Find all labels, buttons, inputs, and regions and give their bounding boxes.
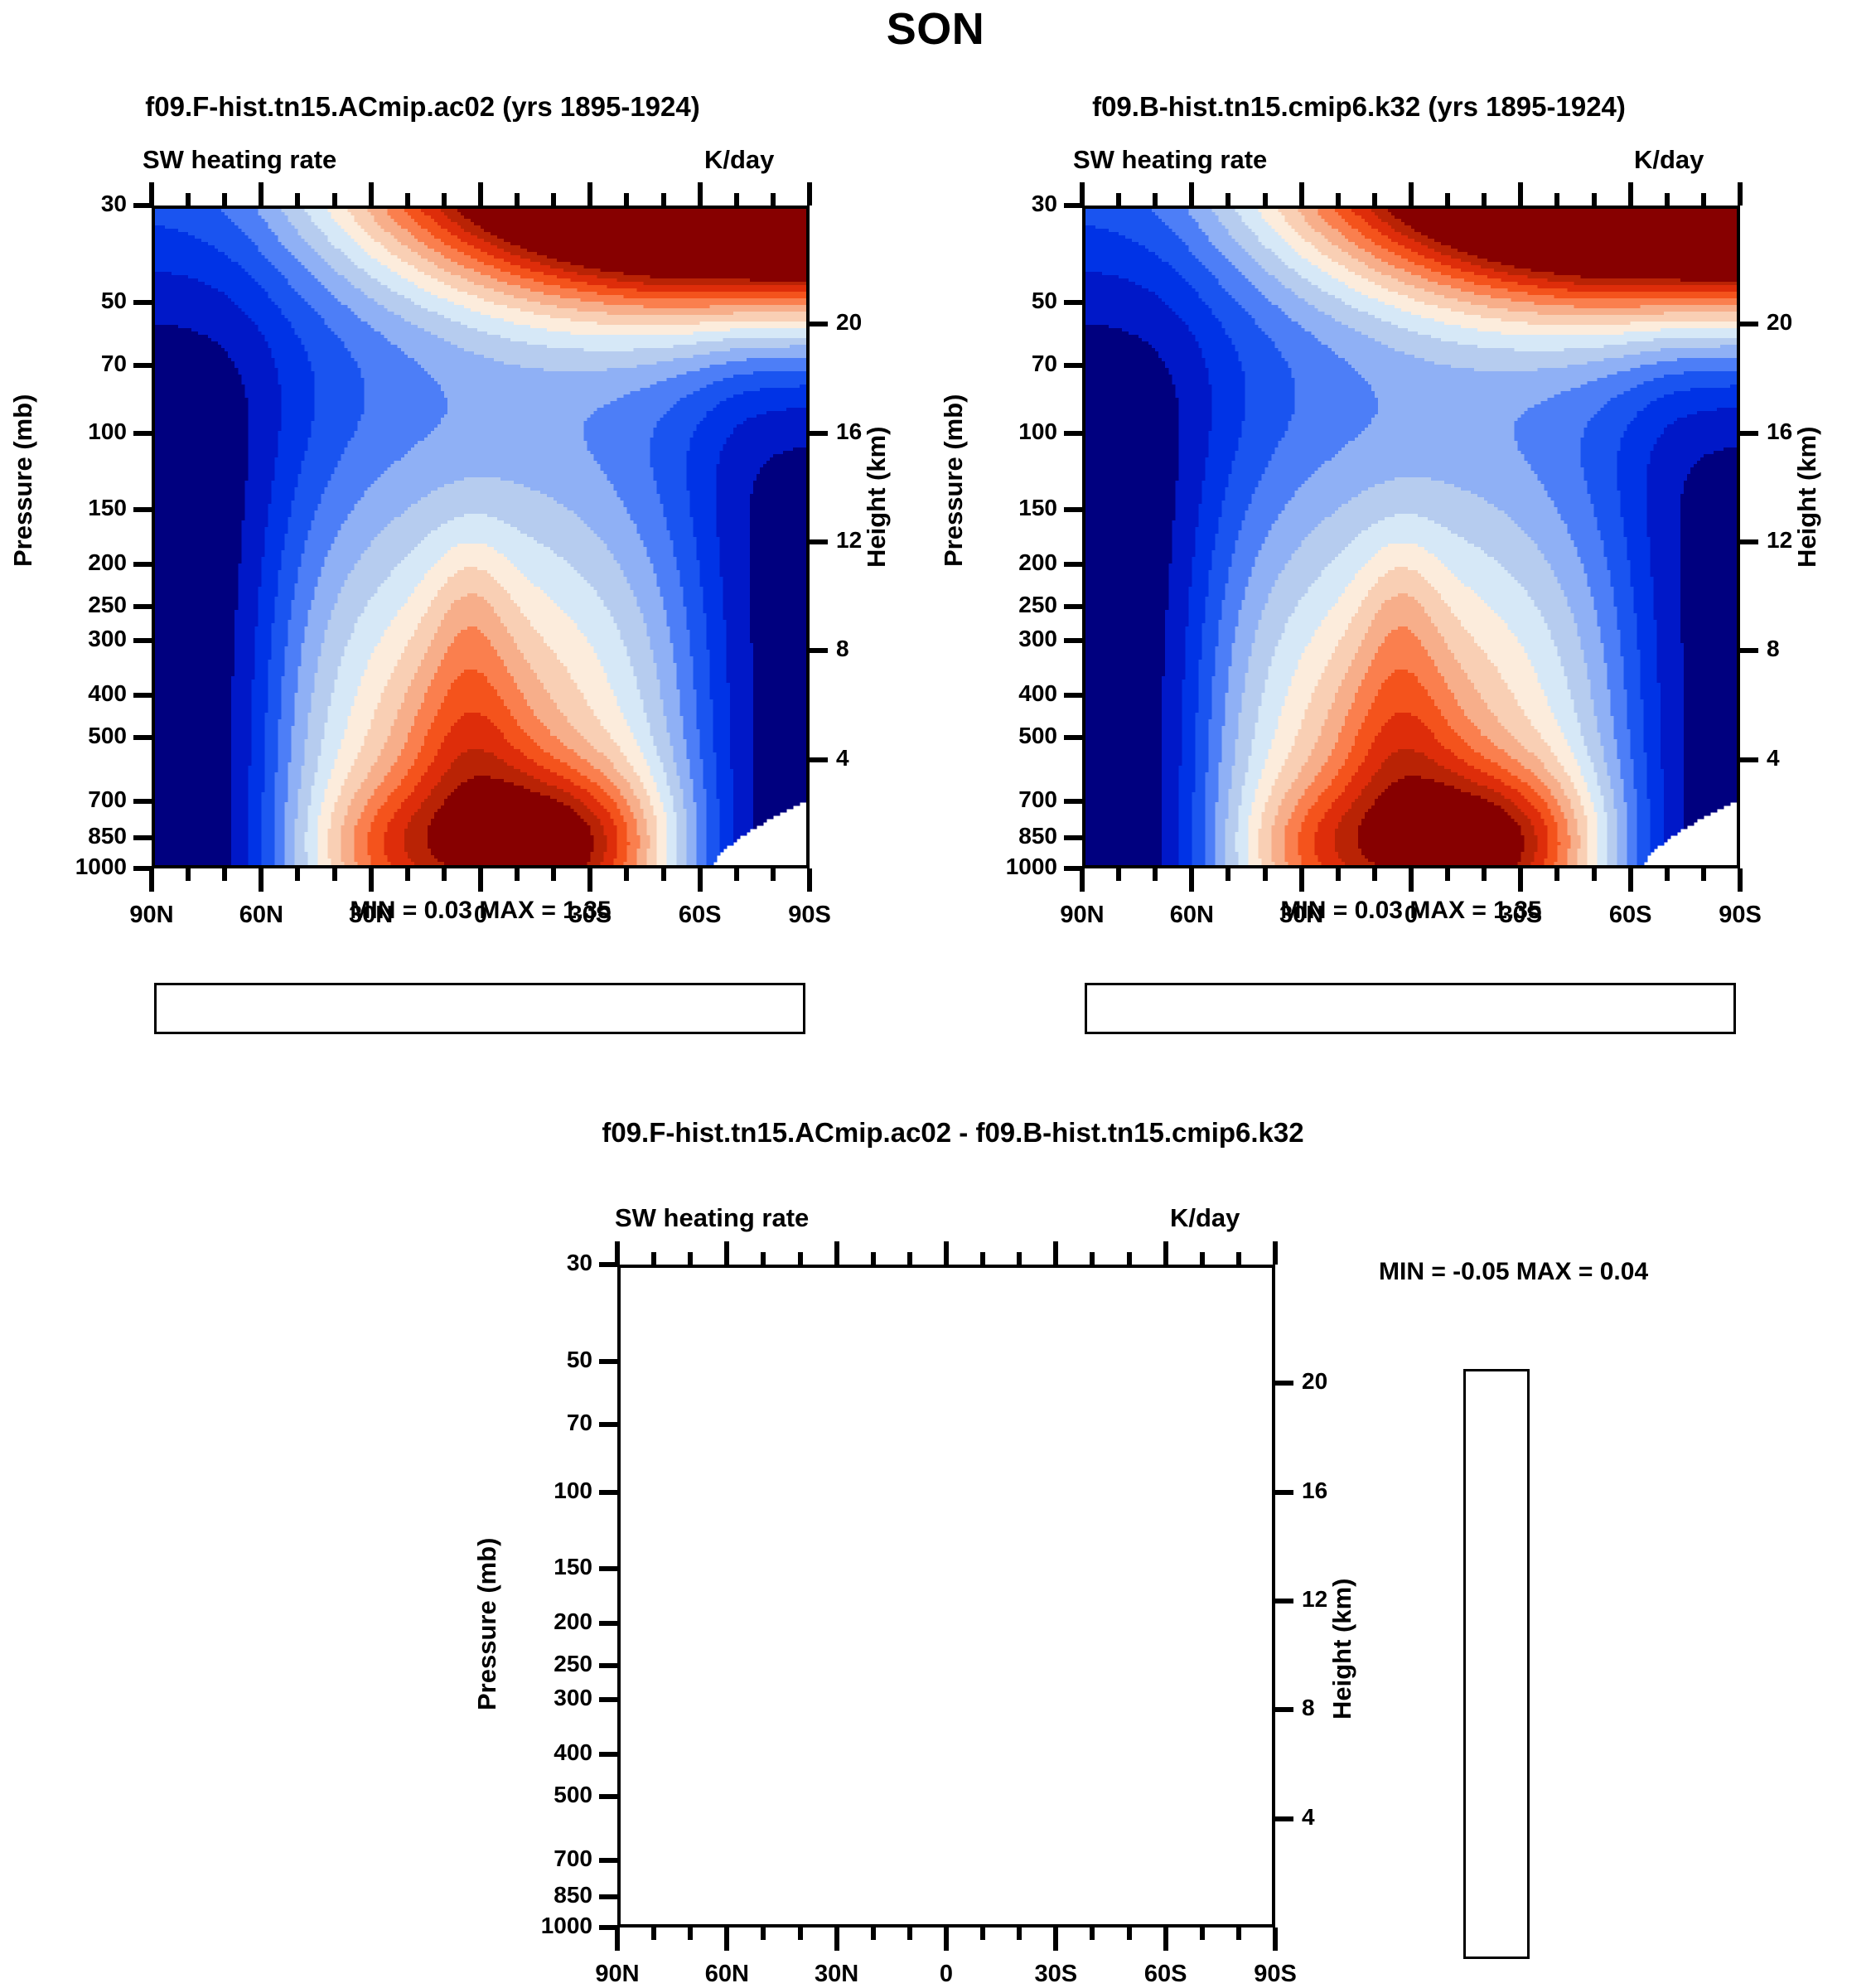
x-tick-top [907, 1252, 912, 1265]
x-tick-top [587, 182, 592, 206]
y-tick-label: 1000 [941, 854, 1057, 880]
x-tick-minor [222, 868, 227, 881]
x-tick-label: 90S [1690, 902, 1790, 929]
x-tick-top [1017, 1252, 1022, 1265]
y2-axis-title-left: Height (km) [862, 331, 892, 663]
x-tick-label: 0 [1361, 902, 1461, 929]
contour-field [1085, 209, 1740, 868]
x-tick-label: 90S [760, 902, 859, 929]
y-tick-label: 30 [11, 191, 127, 217]
y-tick-label: 700 [476, 1845, 592, 1872]
x-tick-minor [1236, 1928, 1241, 1940]
x-tick-top [259, 182, 263, 206]
y-tick-label: 200 [476, 1608, 592, 1635]
y-tick-label: 300 [941, 626, 1057, 652]
x-tick-major [1299, 868, 1304, 892]
x-tick-minor [1665, 868, 1670, 881]
y2-tick-label: 12 [1767, 527, 1792, 554]
y-tick-label: 150 [941, 495, 1057, 521]
y-tick-label: 1000 [11, 854, 127, 880]
y-tick [1064, 431, 1082, 436]
y2-tick [1275, 1381, 1293, 1386]
y2-tick-label: 4 [1767, 745, 1780, 771]
x-tick-minor [442, 868, 447, 881]
x-tick-top [442, 193, 447, 206]
y-tick-label: 500 [476, 1782, 592, 1808]
x-tick-major [834, 1928, 839, 1951]
y-tick [1064, 638, 1082, 643]
x-tick-top [1299, 182, 1304, 206]
x-tick-label: 30S [1006, 1961, 1105, 1988]
y-tick [133, 799, 152, 804]
y2-tick-label: 16 [1767, 418, 1792, 445]
y2-tick-label: 12 [836, 527, 862, 554]
y-tick-label: 500 [941, 723, 1057, 749]
y2-tick-label: 20 [1767, 309, 1792, 336]
y-tick [599, 1697, 617, 1702]
contour-plot-right [1082, 206, 1740, 868]
y-tick-label: 70 [476, 1410, 592, 1436]
x-tick-top [661, 193, 666, 206]
y-tick [1064, 300, 1082, 305]
x-tick-top [1080, 182, 1085, 206]
y-tick [133, 562, 152, 567]
x-tick-label: 90S [1226, 1961, 1325, 1988]
y-tick-label: 400 [11, 680, 127, 707]
x-tick-top [1273, 1241, 1278, 1265]
y2-tick [1740, 757, 1758, 762]
field-label-right: SW heating rate [1073, 145, 1267, 175]
x-tick-top [1263, 193, 1268, 206]
x-tick-top [515, 193, 520, 206]
y-tick [599, 1858, 617, 1863]
y-tick [599, 1794, 617, 1799]
x-tick-top [1236, 1252, 1241, 1265]
units-label-right: K/day [1634, 145, 1704, 175]
x-tick-top [834, 1241, 839, 1265]
y-tick [1064, 562, 1082, 567]
x-tick-major [724, 1928, 729, 1951]
y2-tick [810, 322, 828, 326]
y2-tick [1275, 1599, 1293, 1603]
y-tick [133, 604, 152, 609]
x-tick-top [807, 182, 812, 206]
y2-tick-label: 8 [836, 636, 849, 662]
y-tick [599, 1490, 617, 1495]
y-tick-label: 200 [941, 549, 1057, 576]
x-tick-minor [1445, 868, 1450, 881]
y-tick [1064, 363, 1082, 368]
x-tick-top [1090, 1252, 1095, 1265]
y2-tick [810, 757, 828, 762]
contour-plot-diff [617, 1265, 1275, 1928]
x-tick-minor [405, 868, 410, 881]
y-tick-label: 70 [941, 351, 1057, 377]
y2-tick [1275, 1707, 1293, 1712]
panel-title-left: f09.F-hist.tn15.ACmip.ac02 (yrs 1895-192… [50, 91, 795, 123]
x-tick-minor [1372, 868, 1377, 881]
x-tick-minor [295, 868, 300, 881]
x-tick-top [1738, 182, 1743, 206]
x-tick-top [688, 1252, 693, 1265]
y2-tick [810, 648, 828, 653]
x-tick-top [1409, 182, 1414, 206]
x-tick-top [1153, 193, 1158, 206]
y2-tick [1275, 1490, 1293, 1495]
x-tick-label: 60N [211, 902, 311, 929]
x-tick-minor [907, 1928, 912, 1940]
x-tick-major [259, 868, 263, 892]
x-tick-minor [1263, 868, 1268, 881]
x-tick-major [369, 868, 374, 892]
y-tick-label: 100 [11, 418, 127, 445]
x-tick-minor [1200, 1928, 1205, 1940]
y-tick [599, 1663, 617, 1668]
minmax-diff: MIN = -0.05 MAX = 0.04 [1379, 1258, 1648, 1286]
x-tick-top [1518, 182, 1523, 206]
y2-tick [1740, 539, 1758, 544]
x-tick-top [651, 1252, 656, 1265]
x-tick-top [1445, 193, 1450, 206]
x-tick-top [186, 193, 191, 206]
x-tick-minor [186, 868, 191, 881]
x-tick-major [478, 868, 483, 892]
x-tick-top [771, 193, 776, 206]
y-tick [133, 507, 152, 512]
y-tick [599, 1894, 617, 1899]
y2-tick [1275, 1816, 1293, 1821]
y2-tick [810, 431, 828, 436]
y2-tick-label: 8 [1302, 1695, 1315, 1721]
y-tick [1064, 835, 1082, 840]
y2-tick-label: 4 [836, 745, 849, 771]
x-tick-label: 60S [650, 902, 750, 929]
x-tick-top [1163, 1241, 1168, 1265]
y-tick [133, 693, 152, 698]
y2-axis-title-diff: Height (km) [1327, 1483, 1357, 1815]
y-tick [1064, 799, 1082, 804]
x-tick-major [615, 1928, 620, 1951]
x-tick-top [1592, 193, 1597, 206]
y-tick [1064, 507, 1082, 512]
x-tick-top [944, 1241, 949, 1265]
x-tick-major [698, 868, 703, 892]
y2-axis-title-right: Height (km) [1792, 331, 1822, 663]
x-tick-top [551, 193, 556, 206]
y-tick-label: 50 [476, 1347, 592, 1373]
y-tick-label: 700 [941, 786, 1057, 813]
x-tick-minor [734, 868, 739, 881]
x-tick-major [807, 868, 812, 892]
x-tick-top [1482, 193, 1487, 206]
x-tick-top [1189, 182, 1194, 206]
x-tick-top [1116, 193, 1121, 206]
y-tick [1064, 735, 1082, 740]
x-tick-top [1554, 193, 1559, 206]
y-tick-label: 30 [476, 1250, 592, 1276]
y-tick [133, 363, 152, 368]
y2-tick-label: 16 [836, 418, 862, 445]
x-tick-label: 90N [102, 902, 201, 929]
x-tick-minor [980, 1928, 985, 1940]
x-tick-major [1518, 868, 1523, 892]
y-tick-label: 50 [11, 288, 127, 314]
y-tick-label: 250 [11, 592, 127, 618]
y-tick-label: 150 [11, 495, 127, 521]
x-tick-major [1080, 868, 1085, 892]
x-tick-top [295, 193, 300, 206]
x-tick-minor [761, 1928, 766, 1940]
y-tick [133, 735, 152, 740]
x-tick-label: 0 [897, 1961, 996, 1988]
y-tick-label: 30 [941, 191, 1057, 217]
x-tick-label: 60S [1116, 1961, 1216, 1988]
x-tick-top [761, 1252, 766, 1265]
y-tick-label: 200 [11, 549, 127, 576]
y2-tick [1740, 648, 1758, 653]
units-label-left: K/day [704, 145, 774, 175]
x-tick-label: 60S [1581, 902, 1680, 929]
x-tick-minor [1127, 1928, 1132, 1940]
x-tick-major [1053, 1928, 1058, 1951]
y2-tick [810, 539, 828, 544]
y-tick-label: 70 [11, 351, 127, 377]
x-tick-top [1127, 1252, 1132, 1265]
x-tick-label: 30N [322, 902, 421, 929]
x-tick-top [1372, 193, 1377, 206]
x-tick-minor [1336, 868, 1341, 881]
x-tick-major [1409, 868, 1414, 892]
panel-title-right: f09.B-hist.tn15.cmip6.k32 (yrs 1895-1924… [986, 91, 1732, 123]
x-tick-top [149, 182, 154, 206]
panel-title-diff: f09.F-hist.tn15.ACmip.ac02 - f09.B-hist.… [356, 1117, 1549, 1149]
x-tick-top [698, 182, 703, 206]
x-tick-major [1738, 868, 1743, 892]
x-tick-minor [1153, 868, 1158, 881]
x-tick-label: 30S [1471, 902, 1570, 929]
x-tick-minor [515, 868, 520, 881]
y-tick-label: 100 [941, 418, 1057, 445]
x-tick-top [405, 193, 410, 206]
diff-colorbar [1463, 1369, 1530, 1959]
y-tick-label: 150 [476, 1554, 592, 1580]
x-tick-minor [624, 868, 629, 881]
x-tick-minor [332, 868, 337, 881]
x-tick-top [1226, 193, 1230, 206]
x-tick-minor [1554, 868, 1559, 881]
x-tick-minor [1482, 868, 1487, 881]
x-tick-label: 30N [1252, 902, 1351, 929]
x-tick-top [1628, 182, 1633, 206]
x-tick-label: 30S [540, 902, 640, 929]
x-tick-top [871, 1252, 876, 1265]
x-tick-major [1273, 1928, 1278, 1951]
x-tick-label: 60N [677, 1961, 776, 1988]
x-tick-top [798, 1252, 803, 1265]
y-tick [599, 1752, 617, 1757]
x-tick-minor [771, 868, 776, 881]
y2-tick-label: 20 [836, 309, 862, 336]
x-tick-minor [1116, 868, 1121, 881]
y-tick [599, 1621, 617, 1626]
x-tick-major [587, 868, 592, 892]
y-tick-label: 300 [11, 626, 127, 652]
y2-tick-label: 16 [1302, 1478, 1327, 1504]
y2-tick-label: 4 [1302, 1804, 1315, 1831]
y-tick-label: 850 [476, 1882, 592, 1908]
x-tick-minor [551, 868, 556, 881]
y-tick [599, 1422, 617, 1427]
x-tick-major [1189, 868, 1194, 892]
y-tick-label: 250 [476, 1651, 592, 1677]
x-tick-label: 0 [431, 902, 530, 929]
x-tick-minor [688, 1928, 693, 1940]
x-tick-top [369, 182, 374, 206]
x-tick-minor [1017, 1928, 1022, 1940]
x-tick-major [1163, 1928, 1168, 1951]
x-tick-major [149, 868, 154, 892]
page-title: SON [0, 3, 1871, 55]
x-tick-top [1053, 1241, 1058, 1265]
y-tick [133, 431, 152, 436]
x-tick-minor [1226, 868, 1230, 881]
y-tick [1064, 693, 1082, 698]
y-tick [599, 1566, 617, 1571]
y-tick [1064, 604, 1082, 609]
y-tick-label: 400 [941, 680, 1057, 707]
y2-tick-label: 20 [1302, 1368, 1327, 1395]
x-tick-minor [1090, 1928, 1095, 1940]
y-tick [599, 1359, 617, 1364]
colorbar-left [154, 983, 805, 1034]
contour-plot-left [152, 206, 810, 868]
x-tick-top [1336, 193, 1341, 206]
x-tick-minor [661, 868, 666, 881]
y-tick-label: 100 [476, 1478, 592, 1504]
y2-tick-label: 12 [1302, 1586, 1327, 1613]
x-tick-major [944, 1928, 949, 1951]
y-tick-label: 850 [11, 823, 127, 849]
y-tick-label: 300 [476, 1685, 592, 1711]
x-tick-label: 90N [1032, 902, 1132, 929]
y-tick [133, 638, 152, 643]
x-tick-top [1701, 193, 1706, 206]
x-tick-major [1628, 868, 1633, 892]
x-tick-label: 60N [1142, 902, 1241, 929]
y2-tick [1740, 431, 1758, 436]
x-tick-minor [871, 1928, 876, 1940]
y-tick-label: 250 [941, 592, 1057, 618]
colorbar-right [1085, 983, 1736, 1034]
x-tick-minor [651, 1928, 656, 1940]
x-tick-top [615, 1241, 620, 1265]
x-tick-top [1665, 193, 1670, 206]
y-tick-label: 850 [941, 823, 1057, 849]
x-tick-top [724, 1241, 729, 1265]
contour-field [155, 209, 810, 868]
x-tick-top [332, 193, 337, 206]
y-tick-label: 400 [476, 1739, 592, 1766]
y2-tick [1740, 322, 1758, 326]
field-label-left: SW heating rate [143, 145, 336, 175]
x-tick-minor [1592, 868, 1597, 881]
x-tick-minor [1701, 868, 1706, 881]
y-tick-label: 500 [11, 723, 127, 749]
x-tick-minor [798, 1928, 803, 1940]
y-tick-label: 700 [11, 786, 127, 813]
x-tick-label: 30N [787, 1961, 887, 1988]
x-tick-top [1200, 1252, 1205, 1265]
x-tick-top [624, 193, 629, 206]
units-label-diff: K/day [1170, 1203, 1240, 1233]
x-tick-top [980, 1252, 985, 1265]
y-tick-label: 1000 [476, 1913, 592, 1939]
y2-tick-label: 8 [1767, 636, 1780, 662]
field-label-diff: SW heating rate [615, 1203, 809, 1233]
x-tick-top [734, 193, 739, 206]
x-tick-top [478, 182, 483, 206]
y-tick-label: 50 [941, 288, 1057, 314]
y-tick [133, 835, 152, 840]
x-tick-top [222, 193, 227, 206]
y-tick [133, 300, 152, 305]
x-tick-label: 90N [568, 1961, 667, 1988]
